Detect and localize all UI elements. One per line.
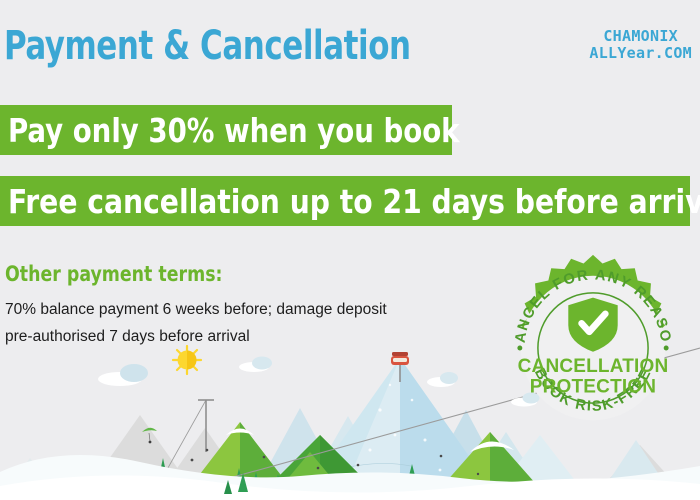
banner-pay-text: Pay only 30% when you book bbox=[8, 111, 460, 150]
term-line-2: pre-authorised 7 days before arrival bbox=[5, 323, 455, 350]
badge-dot-right bbox=[664, 346, 669, 351]
badge-center-line-1: CANCELLATION bbox=[518, 356, 669, 377]
payment-cancellation-poster: Payment & Cancellation CHAMONIX ALLYear.… bbox=[0, 0, 700, 500]
brand-logo-line-2: ALLYear.COM bbox=[589, 45, 692, 62]
badge-center-line-2: PROTECTION bbox=[530, 377, 656, 398]
brand-logo-line-1: CHAMONIX bbox=[589, 28, 692, 45]
term-line-1: 70% balance payment 6 weeks before; dama… bbox=[5, 296, 455, 323]
other-terms-body: 70% balance payment 6 weeks before; dama… bbox=[5, 296, 455, 350]
badge-dot-left bbox=[517, 346, 522, 351]
banner-cancel-text: Free cancellation up to 21 days before a… bbox=[8, 182, 700, 221]
banner-free-cancellation: Free cancellation up to 21 days before a… bbox=[0, 176, 690, 226]
sun-icon bbox=[173, 346, 201, 374]
brand-logo[interactable]: CHAMONIX ALLYear.COM bbox=[589, 28, 692, 62]
banner-pay-deposit: Pay only 30% when you book bbox=[0, 105, 452, 155]
gondola-cabin bbox=[391, 352, 409, 365]
cancellation-protection-badge: CANCEL FOR ANY REASON BOOK RISK-FREE CAN… bbox=[498, 253, 688, 443]
other-terms-heading: Other payment terms: bbox=[5, 262, 223, 286]
page-title: Payment & Cancellation bbox=[4, 23, 411, 69]
